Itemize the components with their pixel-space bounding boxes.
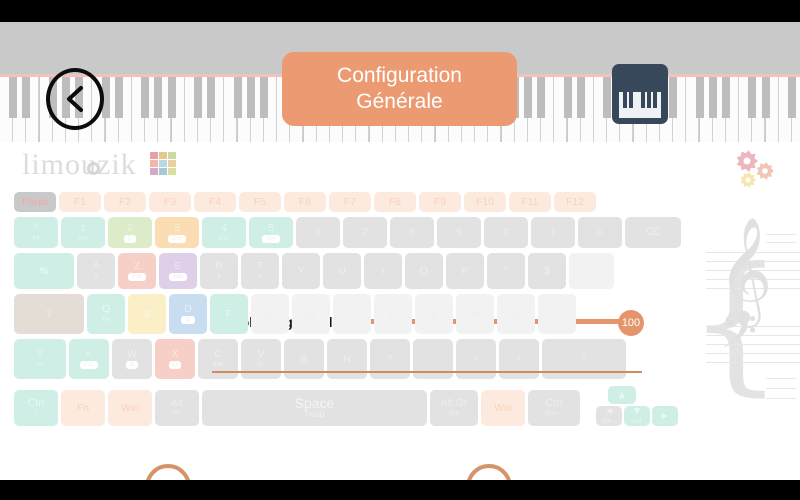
key-sublabel: Vol — [632, 418, 641, 426]
key-label: Alt Gr — [441, 398, 468, 409]
icon-black-key — [653, 92, 657, 108]
key-sublabel: Triad — [304, 410, 324, 418]
key-label: Q — [102, 304, 110, 315]
logo-dot-icon — [87, 162, 100, 175]
key-label: ⏎ — [587, 266, 596, 277]
key-label: F4 — [209, 197, 221, 208]
key-label: W — [127, 349, 137, 360]
key-8[interactable]: 8 — [390, 217, 434, 248]
key-sublabel: Oc — [257, 361, 265, 369]
key-label: . — [432, 354, 435, 365]
key-label: H — [307, 309, 315, 320]
piano-black-key — [115, 77, 123, 118]
key-label: ◄ — [604, 406, 614, 417]
key-sublabel: 1 — [34, 410, 38, 418]
back-button[interactable] — [46, 68, 104, 130]
key-label: 1 — [80, 223, 86, 234]
key-space[interactable]: SpaceTriad — [202, 390, 427, 426]
key--[interactable]: <Fm — [69, 339, 109, 379]
key-label: V — [257, 349, 264, 360]
key--[interactable]: ? — [370, 339, 410, 379]
key-f9[interactable]: F9 — [419, 192, 461, 212]
key-label: 3 — [174, 223, 180, 234]
title-line-1: Configuration — [337, 63, 462, 89]
icon-black-key — [641, 92, 645, 108]
key-0[interactable]: 0 — [484, 217, 528, 248]
keyboard-row-bottom-row: Ctrl1FnWinAltFnSpaceTriadAlt GrRotWinCtr… — [0, 390, 690, 426]
key--[interactable]: ⇧ — [542, 339, 626, 379]
key--[interactable]: ⇪ — [14, 294, 84, 334]
key-d[interactable]: DG — [169, 294, 207, 334]
key-q[interactable]: QTm — [87, 294, 125, 334]
tan-rule-line — [212, 371, 642, 373]
ledger-line — [766, 398, 796, 399]
gears-flower-icon — [730, 148, 794, 200]
piano-black-key — [537, 77, 545, 118]
key-label: $ — [544, 266, 550, 277]
bottom-letterbox — [0, 480, 800, 500]
key-win[interactable]: Win — [108, 390, 152, 426]
key-f4[interactable]: F4 — [194, 192, 236, 212]
key-label: ² — [34, 223, 38, 234]
key--[interactable]: . — [413, 339, 453, 379]
key-label: F — [226, 309, 232, 320]
key-label: G — [266, 309, 274, 320]
keyboard-row-tab-row: ↹A5ZFmEAmR8TNYUIOP^$⏎ — [0, 253, 690, 289]
key-w[interactable]: WB — [112, 339, 152, 379]
piano-black-key — [260, 77, 268, 118]
key--[interactable]: $ — [528, 253, 566, 289]
key-sublabel: D — [169, 361, 182, 369]
key-label: F1 — [74, 197, 86, 208]
key-sublabel: Dm — [168, 235, 186, 243]
key--[interactable]: ◄Vol— — [596, 406, 622, 426]
key-h[interactable]: H — [292, 294, 330, 334]
key-o[interactable]: O — [405, 253, 443, 289]
logo-grid-cell — [168, 168, 176, 175]
key--[interactable]: ► — [652, 406, 678, 426]
key-sublabel: N — [258, 273, 263, 281]
piano-black-key — [247, 77, 255, 118]
key--[interactable]: ^ — [487, 253, 525, 289]
key-label: B — [300, 354, 307, 365]
key-label: ▼ — [632, 406, 642, 417]
key-fn[interactable]: Fn — [61, 390, 105, 426]
key--[interactable]: = — [578, 217, 622, 248]
key-sublabel: 8 — [217, 273, 221, 281]
key-sublabel: Vol— — [601, 418, 617, 426]
basses-alternative-label: Basses Alternative — [522, 479, 658, 480]
key-i[interactable]: I — [364, 253, 402, 289]
key-f[interactable]: F — [210, 294, 248, 334]
key-label: O — [420, 266, 428, 277]
key-alt-gr[interactable]: Alt GrRot — [430, 390, 478, 426]
key-label: F8 — [389, 197, 401, 208]
piano-black-key — [762, 77, 770, 118]
piano-black-key — [788, 77, 796, 118]
title-line-2: Générale — [356, 89, 442, 115]
key-label: ! — [518, 354, 521, 365]
key--[interactable]: Ù — [497, 294, 535, 334]
key-f2[interactable]: F2 — [104, 192, 146, 212]
key-a[interactable]: A5 — [77, 253, 115, 289]
page-title-button[interactable]: Configuration Générale — [282, 52, 517, 126]
key-sublabel: Am — [169, 273, 187, 281]
key-label: T — [257, 261, 263, 272]
piano-black-key — [709, 77, 717, 118]
key--[interactable]: ! — [499, 339, 539, 379]
key-label: Ctrl — [28, 398, 44, 409]
key-n[interactable]: N — [327, 339, 367, 379]
key-l[interactable]: L — [415, 294, 453, 334]
key-b[interactable]: B — [284, 339, 324, 379]
app-body: limouzik { 𝄞𝄢 Volume general 100 PanicF1… — [0, 142, 800, 480]
logo-grid-icon — [150, 152, 180, 178]
key--[interactable]: / — [456, 339, 496, 379]
key-label: < — [86, 349, 92, 360]
key-label: F6 — [299, 197, 311, 208]
key-f6[interactable]: F6 — [284, 192, 326, 212]
piano-black-key — [22, 77, 30, 118]
key-label: I — [382, 266, 385, 277]
piano-black-key — [564, 77, 572, 118]
logo-grid-cell — [159, 160, 167, 167]
key-f7[interactable]: F7 — [329, 192, 371, 212]
key-f12[interactable]: F12 — [554, 192, 596, 212]
key-sublabel: 2# — [36, 361, 43, 369]
logo-grid-cell — [150, 160, 158, 167]
key-label: F12 — [566, 197, 584, 208]
key-label: ⇧ — [36, 349, 45, 360]
key-z[interactable]: ZFm — [118, 253, 156, 289]
bass-clef-icon: 𝄢 — [720, 308, 757, 366]
piano-black-key — [722, 77, 730, 118]
key-j[interactable]: J — [333, 294, 371, 334]
logo-grid-cell — [159, 152, 167, 159]
sustain-label: Sustain — [249, 479, 304, 480]
key-label: 7 — [362, 227, 368, 238]
key--[interactable]: * — [538, 294, 576, 334]
key-label: M — [471, 309, 480, 320]
key-label: Win — [121, 403, 139, 414]
key-sublabel: B — [126, 361, 138, 369]
logo-grid-cell — [150, 168, 158, 175]
key-f10[interactable]: F10 — [464, 192, 506, 212]
key-sublabel: Tm — [101, 316, 110, 324]
gear-shape — [756, 162, 774, 185]
keyboard-row-shift-row: ⇧2#<FmWBXDCEmVOcBN?./!⇧ — [0, 339, 690, 379]
key-v[interactable]: VOc — [241, 339, 281, 379]
piano-black-key — [234, 77, 242, 118]
key--[interactable]: ▼Vol — [624, 406, 650, 426]
key-label: Z — [134, 261, 140, 272]
key-f8[interactable]: F8 — [374, 192, 416, 212]
piano-black-key — [9, 77, 17, 118]
key-u[interactable]: U — [323, 253, 361, 289]
piano-black-key — [168, 77, 176, 118]
key-p[interactable]: P — [446, 253, 484, 289]
key-label: Space — [295, 398, 335, 409]
key-3[interactable]: 3Dm — [155, 217, 199, 248]
key-label: X — [171, 349, 178, 360]
key-label: Fn — [77, 403, 89, 414]
key-k[interactable]: K — [374, 294, 412, 334]
key-label: ^ — [504, 266, 509, 277]
key-label: F10 — [476, 197, 494, 208]
piano-black-key — [603, 77, 611, 118]
icon-black-key — [629, 92, 633, 108]
key-label: / — [475, 354, 478, 365]
ledger-line — [766, 378, 796, 379]
key-panic[interactable]: Panic — [14, 192, 56, 212]
key-label: Y — [297, 266, 304, 277]
key-g[interactable]: G — [251, 294, 289, 334]
key-alt[interactable]: AltFn — [155, 390, 199, 426]
key-sublabel: E — [124, 235, 136, 243]
key-6[interactable]: 6 — [296, 217, 340, 248]
key-label: F3 — [164, 197, 176, 208]
app-root: Configuration Générale limouzik { 𝄞𝄢 Vol… — [0, 0, 800, 500]
key-label: P — [461, 266, 468, 277]
key-f1[interactable]: F1 — [59, 192, 101, 212]
key-ctrl[interactable]: Ctrl1 — [14, 390, 58, 426]
key-sublabel: Fn — [173, 410, 181, 418]
key-label: F11 — [521, 197, 538, 208]
key-ctrl[interactable]: CtrlSus— — [528, 390, 580, 426]
key-label: 5 — [268, 223, 274, 234]
key-1[interactable]: 1Rm — [61, 217, 105, 248]
logo-grid-cell — [168, 160, 176, 167]
key-sublabel: Rot — [449, 410, 459, 418]
key-sublabel: Rm — [78, 235, 88, 243]
key-label: C — [214, 349, 222, 360]
key-label: Win — [494, 403, 512, 414]
key-c[interactable]: CEm — [198, 339, 238, 379]
key-label: L — [431, 309, 437, 320]
key-label: ⌫ — [646, 227, 661, 238]
key-m[interactable]: M — [456, 294, 494, 334]
key-label: ) — [551, 227, 555, 238]
key-label: F7 — [344, 197, 356, 208]
key-label: N — [343, 354, 351, 365]
icon-black-key — [647, 92, 651, 108]
key-t[interactable]: TN — [241, 253, 279, 289]
key-y[interactable]: Y — [282, 253, 320, 289]
key-sublabel: Dm — [262, 235, 280, 243]
key--[interactable]: ↹ — [14, 253, 74, 289]
keyboard-row-number-row: ²Fit1Rm2E3Dm4Em5Dm67890)=⌫ — [0, 217, 690, 248]
key-label: 9 — [456, 227, 462, 238]
key-5[interactable]: 5Dm — [249, 217, 293, 248]
key-sublabel: Fm — [80, 361, 97, 369]
key-label: ⇪ — [45, 309, 54, 320]
key--[interactable]: ⏎ — [569, 253, 614, 289]
key-sublabel: G — [181, 316, 194, 324]
key-label: 2 — [127, 223, 133, 234]
key-label: F2 — [119, 197, 131, 208]
icon-black-key — [623, 92, 627, 108]
key-label: Alt — [171, 398, 183, 409]
logo-wordmark: limouzik — [22, 148, 137, 181]
key-9[interactable]: 9 — [437, 217, 481, 248]
key-label: * — [555, 309, 559, 320]
ledger-line — [766, 388, 796, 389]
key-4[interactable]: 4Em — [202, 217, 246, 248]
key--[interactable]: ⌫ — [625, 217, 681, 248]
piano-black-key — [696, 77, 704, 118]
key-r[interactable]: R8 — [200, 253, 238, 289]
key-sublabel: Em — [219, 235, 229, 243]
key-label: F9 — [434, 197, 446, 208]
app-header: Configuration Générale — [0, 22, 800, 142]
key-sublabel: Fm — [128, 273, 145, 281]
piano-black-key — [207, 77, 215, 118]
key--[interactable]: ▲ — [608, 386, 636, 404]
logo-grid-cell — [168, 152, 176, 159]
key--[interactable]: ²Fit — [14, 217, 58, 248]
key-label: D — [184, 304, 192, 315]
key-label: 0 — [503, 227, 509, 238]
piano-black-key — [154, 77, 162, 118]
key-label: 4 — [221, 223, 227, 234]
key--[interactable]: ) — [531, 217, 575, 248]
piano-black-key — [669, 77, 677, 118]
piano-black-key — [141, 77, 149, 118]
logo-grid-cell — [159, 168, 167, 175]
key-label: ↹ — [40, 266, 49, 277]
key-label: S — [143, 309, 150, 320]
keyboard-row-function-row: PanicF1F2F3F4F5F6F7F8F9F10F11F12 — [0, 192, 690, 212]
key-label: J — [349, 309, 354, 320]
piano-black-key — [524, 77, 532, 118]
logo-grid-cell — [150, 152, 158, 159]
key-sublabel: 5 — [94, 273, 98, 281]
key-2[interactable]: 2E — [108, 217, 152, 248]
key-label: R — [215, 261, 223, 272]
key-label: U — [338, 266, 346, 277]
key-f11[interactable]: F11 — [509, 192, 551, 212]
key-label: ► — [660, 411, 670, 422]
key-label: ▲ — [617, 390, 627, 401]
piano-keyboard-icon[interactable] — [612, 64, 668, 124]
key-label: Panic — [22, 197, 48, 208]
key-s[interactable]: S — [128, 294, 166, 334]
key-label: F5 — [254, 197, 266, 208]
key-x[interactable]: XD — [155, 339, 195, 379]
key-sublabel: Em — [213, 361, 223, 369]
key-sublabel: Sus— — [545, 410, 563, 418]
piano-black-key — [577, 77, 585, 118]
music-staff-icon: { 𝄞𝄢 — [688, 230, 800, 430]
key-7[interactable]: 7 — [343, 217, 387, 248]
key--[interactable]: ⇧2# — [14, 339, 66, 379]
key-label: 6 — [315, 227, 321, 238]
key-label: ? — [387, 354, 393, 365]
gear-shape — [740, 172, 756, 193]
piano-black-key — [194, 77, 202, 118]
key-label: A — [92, 261, 99, 272]
key-label: Ù — [512, 309, 520, 320]
key-f3[interactable]: F3 — [149, 192, 191, 212]
piano-black-key — [748, 77, 756, 118]
app-logo: limouzik — [22, 148, 182, 184]
key-f5[interactable]: F5 — [239, 192, 281, 212]
key-label: Ctrl — [546, 398, 562, 409]
key-label: = — [597, 227, 603, 238]
key-sublabel: Fit — [32, 235, 39, 243]
chevron-left-icon — [64, 84, 86, 114]
key-e[interactable]: EAm — [159, 253, 197, 289]
key-label: ⇧ — [580, 354, 589, 365]
keyboard-row-home-row: ⇪QTmSDGFGHJKLMÙ* — [0, 294, 690, 334]
key-label: 8 — [409, 227, 415, 238]
key-win[interactable]: Win — [481, 390, 525, 426]
virtual-keyboard: PanicF1F2F3F4F5F6F7F8F9F10F11F12²Fit1Rm2… — [0, 192, 690, 480]
key-label: E — [174, 261, 181, 272]
key-label: K — [389, 309, 396, 320]
